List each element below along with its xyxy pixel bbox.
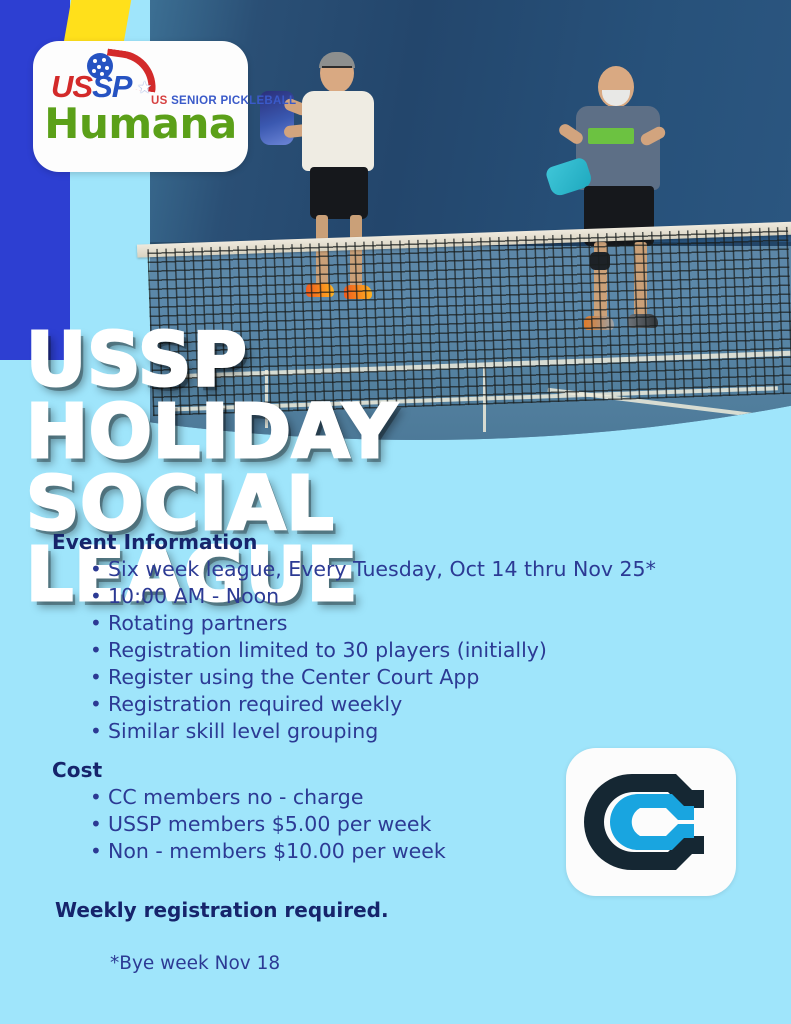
event-information-heading: Event Information xyxy=(52,530,791,554)
list-item: Registration limited to 30 players (init… xyxy=(108,637,791,664)
weekly-registration-notice: Weekly registration required. xyxy=(55,898,791,922)
list-item: Registration required weekly xyxy=(108,691,791,718)
list-item: Register using the Center Court App xyxy=(108,664,791,691)
poster-root: USSP ★ US SENIOR PICKLEBALL Humana USSP … xyxy=(0,0,791,1024)
list-item: Similar skill level grouping xyxy=(108,718,791,745)
center-court-logo-card xyxy=(566,748,736,896)
ussp-mark: USSP ★ xyxy=(51,53,155,105)
bye-week-footnote: *Bye week Nov 18 xyxy=(110,953,791,974)
star-icon: ★ xyxy=(137,79,152,96)
ussp-wordmark: USSP xyxy=(51,71,131,102)
ussp-humana-logo-card: USSP ★ US SENIOR PICKLEBALL Humana xyxy=(33,41,248,172)
list-item: Rotating partners xyxy=(108,610,791,637)
list-item: Six week league, Every Tuesday, Oct 14 t… xyxy=(108,556,791,583)
center-court-c-icon xyxy=(580,762,722,882)
humana-sponsor-logo: Humana xyxy=(33,103,248,145)
page-title-line1: USSP HOLIDAY xyxy=(26,317,398,475)
list-item: 10:00 AM - Noon xyxy=(108,583,791,610)
event-information-list: Six week league, Every Tuesday, Oct 14 t… xyxy=(0,556,791,745)
